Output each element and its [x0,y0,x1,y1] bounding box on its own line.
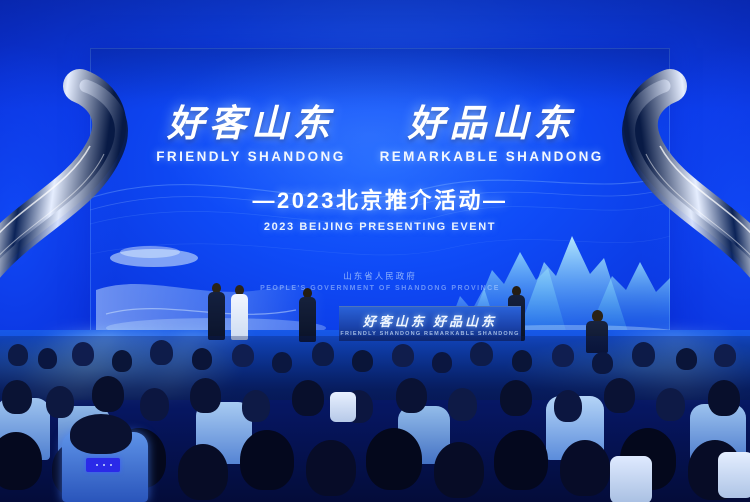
audience-head [140,388,169,421]
white-shirt-accent [718,452,750,498]
audience-head [366,428,422,490]
audience-head [190,378,221,413]
audience-head [714,344,736,367]
slogan-right-cn: 好品山东 [380,106,604,144]
audience-head [72,342,94,366]
audience-head [656,388,685,421]
slogan-left-en: FRIENDLY SHANDONG [156,149,345,164]
white-shirt-accent [330,392,356,422]
slogan-left-cn: 好客山东 [156,106,345,144]
white-shirt-accent [610,456,652,502]
audience-head [494,430,548,490]
audience-head [2,380,32,414]
audience-head [150,340,173,365]
male-host [208,283,225,340]
audience-head [192,348,212,370]
slogan-right-en: REMARKABLE SHANDONG [380,149,604,164]
audience-head [292,380,324,416]
female-host [231,285,248,340]
organizer-en: PEOPLE'S GOVERNMENT OF SHANDONG PROVINCE [90,285,670,292]
audience-head [500,380,532,416]
audience-head [92,376,124,412]
chair-logo-badge [86,458,120,472]
audience-head [306,440,356,496]
audience-head [554,390,582,422]
stage-speaker [299,288,316,342]
audience-head [232,344,254,367]
audience-head [392,344,414,367]
audience-head [560,440,610,496]
event-title-en: 2023 BEIJING PRESENTING EVENT [90,221,670,233]
host-body [231,294,248,340]
organizer-cn: 山东省人民政府 [90,270,670,282]
podium-slogan-cn: 好客山东 好品山东 [363,311,497,330]
audience-head [8,344,28,366]
headline-slogan-row: 好客山东 FRIENDLY SHANDONG 好品山东 REMARKABLE S… [90,106,670,164]
led-screen: 好客山东 FRIENDLY SHANDONG 好品山东 REMARKABLE S… [90,48,670,338]
audience-head [396,378,427,413]
audience-area [0,336,750,502]
audience-head [242,390,270,422]
audience-head [312,342,334,366]
audience-head [448,388,477,421]
audience-head [470,342,493,366]
audience-head [552,344,574,367]
slogan-friendly-shandong: 好客山东 FRIENDLY SHANDONG [156,106,345,164]
audience-head [604,378,635,413]
audience-head [434,442,484,498]
audience-head [592,352,613,374]
audience-head [272,352,292,373]
audience-head [432,352,452,373]
host-body [208,292,225,340]
audience-head [676,348,697,370]
audience-head [352,350,373,372]
audience-head [70,414,132,454]
organizer-credit: 山东省人民政府 PEOPLE'S GOVERNMENT OF SHANDONG … [90,270,670,292]
audience-head [178,444,228,500]
audience-head [632,342,655,367]
event-stage-photo: 好客山东 FRIENDLY SHANDONG 好品山东 REMARKABLE S… [0,0,750,502]
audience-head [240,430,294,490]
audience-head [512,350,532,372]
audience-head [112,350,132,372]
screen-headline: 好客山东 FRIENDLY SHANDONG 好品山东 REMARKABLE S… [90,106,670,233]
slogan-remarkable-shandong: 好品山东 REMARKABLE SHANDONG [380,106,604,164]
audience-head [46,386,74,418]
audience-head [708,380,740,416]
event-title-cn: —2023北京推介活动— [90,183,670,215]
audience-head [38,348,57,369]
